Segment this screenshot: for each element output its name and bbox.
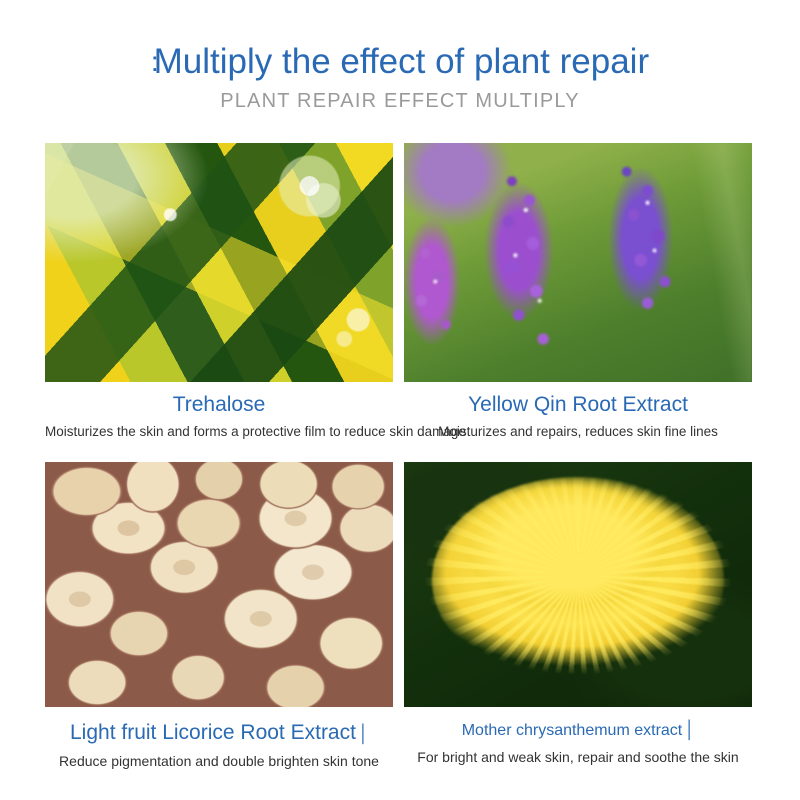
page-subtitle: PLANT REPAIR EFFECT MULTIPLY bbox=[0, 81, 800, 113]
ingredient-title-text: Light fruit Licorice Root Extract bbox=[70, 721, 356, 744]
ingredient-caption: Mother chrysanthemum extract │ For brigh… bbox=[404, 707, 752, 765]
ingredient-row-2: Light fruit Licorice Root Extract │ Redu… bbox=[45, 462, 752, 770]
ingredient-title-text: Mother chrysanthemum extract bbox=[462, 722, 683, 739]
ingredient-description: Reduce pigmentation and double brighten … bbox=[45, 744, 393, 770]
ingredient-title-text: Yellow Qin Root Extract bbox=[468, 393, 688, 416]
ingredient-card-licorice-root: Light fruit Licorice Root Extract │ Redu… bbox=[45, 462, 393, 770]
page-title-text: Multiply the effect of plant repair bbox=[154, 42, 649, 81]
ingredient-grid: Trehalose Moisturizes the skin and forms… bbox=[45, 143, 752, 770]
ingredient-description: Moisturizes the skin and forms a protect… bbox=[45, 416, 393, 440]
aloe-leaves-photo bbox=[45, 143, 393, 382]
ingredient-card-chrysanthemum: Mother chrysanthemum extract │ For brigh… bbox=[404, 462, 752, 770]
ingredient-title: Light fruit Licorice Root Extract │ bbox=[45, 721, 393, 744]
ingredient-card-yellow-qin-root: Yellow Qin Root Extract Moisturizes and … bbox=[404, 143, 752, 440]
ingredient-row-1: Trehalose Moisturizes the skin and forms… bbox=[45, 143, 752, 440]
ingredient-title: Trehalose bbox=[45, 393, 393, 416]
page-title: :Multiply the effect of plant repair bbox=[0, 0, 800, 81]
ingredient-title-artifact-glyph: │ bbox=[682, 720, 694, 739]
ingredient-title: Yellow Qin Root Extract bbox=[404, 393, 752, 416]
row-spacer bbox=[45, 440, 752, 462]
ingredient-title: Mother chrysanthemum extract │ bbox=[404, 721, 752, 740]
ingredient-description: For bright and weak skin, repair and soo… bbox=[404, 740, 752, 766]
ingredient-description: Moisturizes and repairs, reduces skin fi… bbox=[404, 416, 752, 440]
ingredient-title-artifact-glyph: │ bbox=[356, 724, 368, 743]
scutellaria-flowers-photo bbox=[404, 143, 752, 382]
ingredient-caption: Yellow Qin Root Extract Moisturizes and … bbox=[404, 382, 752, 440]
ingredient-caption: Trehalose Moisturizes the skin and forms… bbox=[45, 382, 393, 440]
licorice-root-slices-photo bbox=[45, 462, 393, 707]
ingredient-card-trehalose: Trehalose Moisturizes the skin and forms… bbox=[45, 143, 393, 440]
page-header: :Multiply the effect of plant repair PLA… bbox=[0, 0, 800, 113]
ingredient-title-text: Trehalose bbox=[173, 393, 266, 416]
chrysanthemum-flower-photo bbox=[404, 462, 752, 707]
ingredient-caption: Light fruit Licorice Root Extract │ Redu… bbox=[45, 707, 393, 770]
